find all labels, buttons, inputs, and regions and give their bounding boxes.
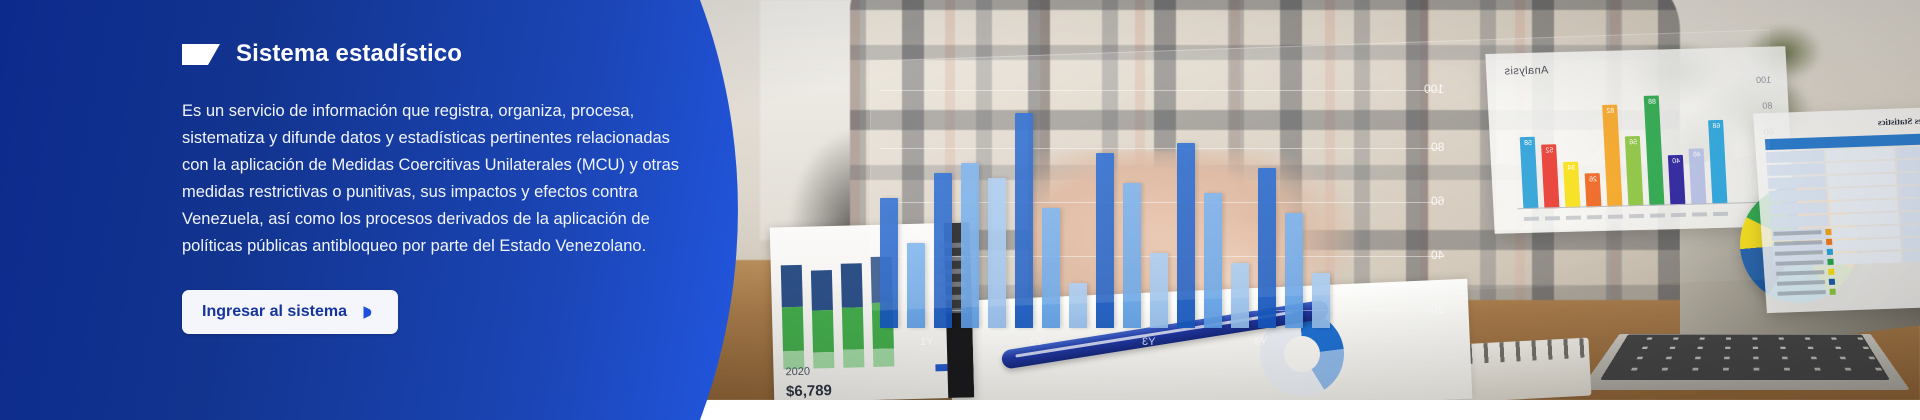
chart-x-tick: Y4 bbox=[1254, 336, 1267, 348]
flag-banner-icon bbox=[182, 44, 220, 65]
analysis-panel-title: Analysis bbox=[1504, 64, 1549, 77]
analysis-bar-value: 88 bbox=[1647, 99, 1655, 106]
tablet-bar-group bbox=[780, 246, 894, 369]
enter-system-button[interactable]: Ingresar al sistema bbox=[182, 290, 398, 334]
banner-description: Es un servicio de información que regist… bbox=[182, 98, 682, 260]
chart-y-tick: 60 bbox=[1431, 194, 1444, 208]
sales-table-legend bbox=[1773, 229, 1836, 297]
tablet-year-label: 2020 bbox=[785, 366, 810, 379]
chart-y-tick: 80 bbox=[1431, 140, 1444, 154]
analysis-bar-value: 26 bbox=[1588, 176, 1596, 183]
analysis-bar-value: 34 bbox=[1567, 165, 1575, 172]
sales-table-title: Sales Statistics bbox=[1877, 115, 1920, 127]
banner-photo: 2020 $6,789 100 80 60 40 20 bbox=[700, 0, 1920, 400]
photo-analysis-panel: Analysis 100 80 60 58 52 34 26 82 56 88 … bbox=[1485, 46, 1794, 234]
tablet-amount-label: $6,789 bbox=[786, 382, 832, 400]
play-arrow-icon bbox=[361, 305, 376, 320]
analysis-bar-group: 58 52 34 26 82 56 88 40 46 68 bbox=[1517, 84, 1727, 209]
banner-title-row: Sistema estadístico bbox=[182, 40, 702, 68]
tablet-legend-swatch bbox=[935, 364, 947, 371]
analysis-y-tick: 100 bbox=[1756, 75, 1772, 85]
analysis-bar-value: 52 bbox=[1545, 147, 1553, 154]
analysis-bar-value: 46 bbox=[1692, 151, 1700, 158]
chart-bar-group bbox=[880, 78, 1330, 328]
chart-y-tick: 40 bbox=[1431, 248, 1444, 262]
chart-x-tick: Y2 bbox=[1030, 336, 1043, 348]
analysis-bar-value: 82 bbox=[1606, 108, 1614, 115]
analysis-bar-value: 68 bbox=[1712, 123, 1720, 130]
analysis-bar-value: 40 bbox=[1672, 158, 1680, 165]
photo-sales-table: Sales Statistics bbox=[1753, 107, 1920, 313]
analysis-x-ticks bbox=[1524, 212, 1728, 221]
chart-y-tick: 100 bbox=[1424, 82, 1444, 96]
photo-laptop-keyboard bbox=[1600, 334, 1890, 380]
analysis-bar-value: 56 bbox=[1629, 139, 1637, 146]
chart-x-tick: Y3 bbox=[1142, 336, 1155, 348]
analysis-y-tick: 80 bbox=[1762, 101, 1773, 111]
banner-content: Sistema estadístico Es un servicio de in… bbox=[182, 0, 702, 420]
page-title: Sistema estadístico bbox=[236, 40, 462, 68]
statistics-system-banner: 2020 $6,789 100 80 60 40 20 bbox=[0, 0, 1920, 420]
chart-y-tick: 20 bbox=[1431, 302, 1444, 316]
chart-x-tick: Y1 bbox=[920, 336, 933, 348]
enter-system-label: Ingresar al sistema bbox=[202, 303, 347, 321]
analysis-bar-value: 58 bbox=[1523, 140, 1531, 147]
photo-floating-bar-chart: 100 80 60 40 20 bbox=[880, 60, 1440, 350]
